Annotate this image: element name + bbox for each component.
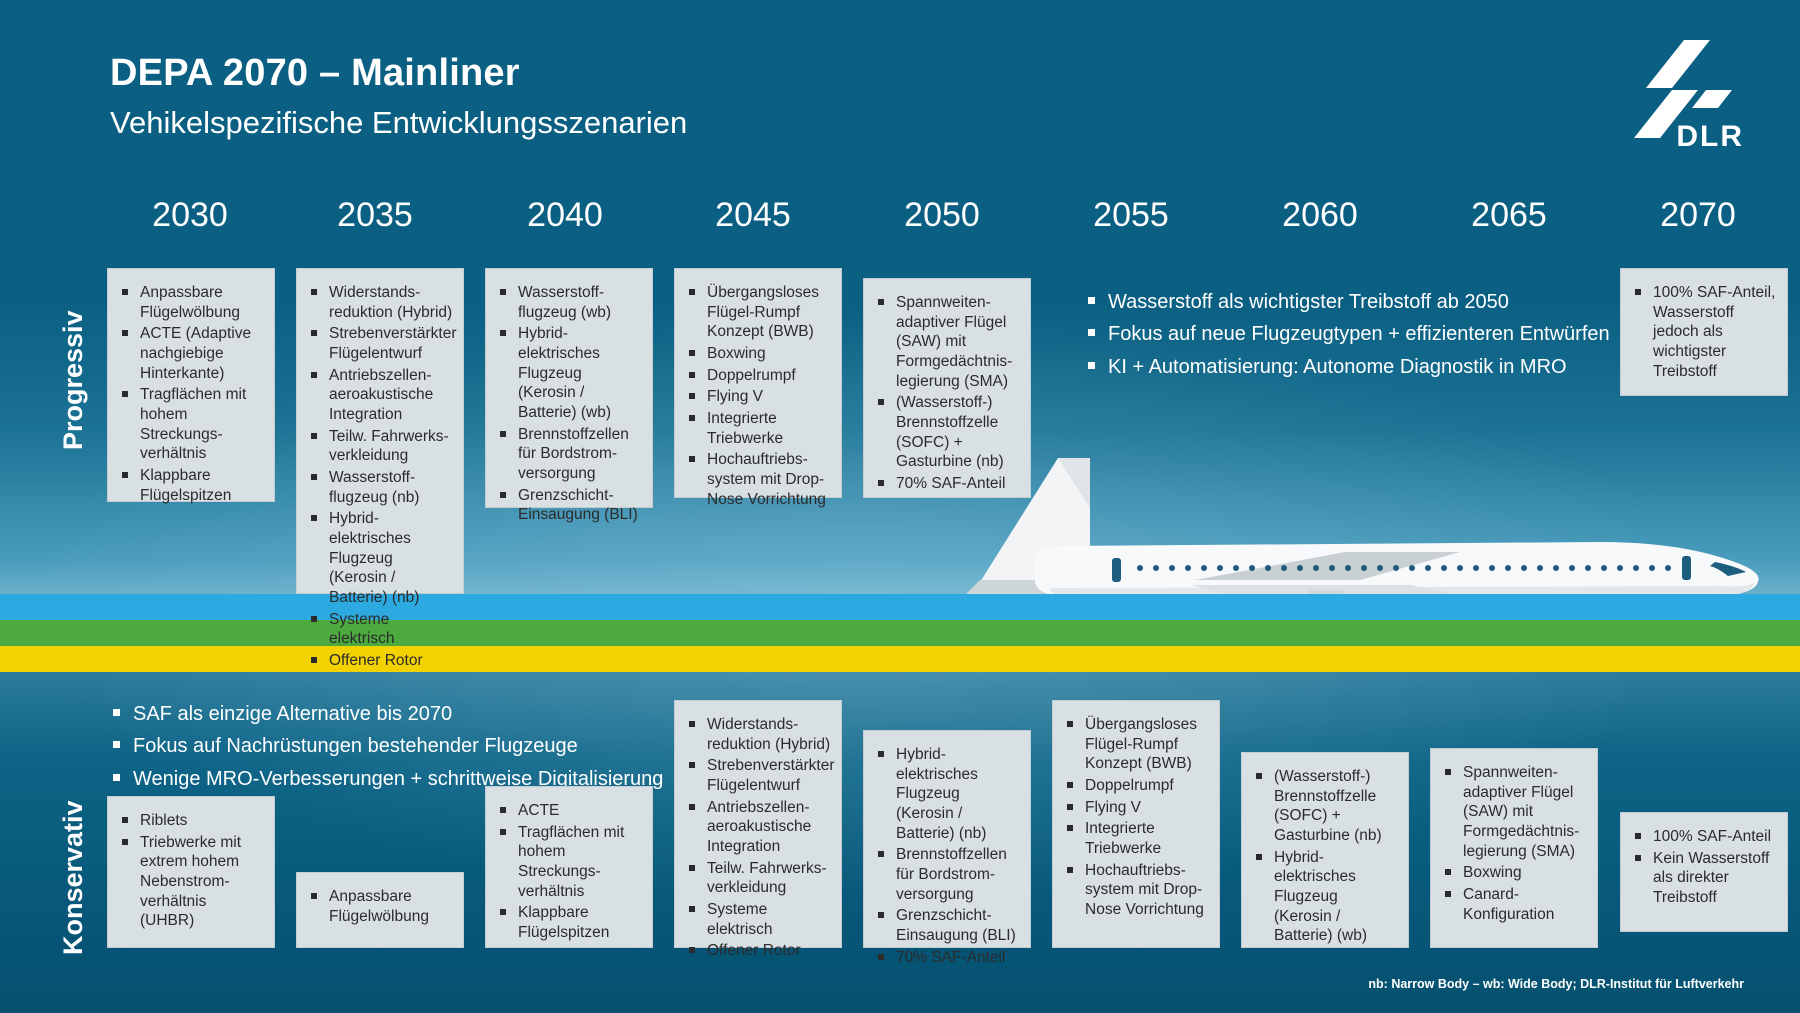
list-item: Übergangsloses Flügel-Rumpf Konzept (BWB… [685,283,831,342]
conservative-box-2055[interactable]: Übergangsloses Flügel-Rumpf Konzept (BWB… [1052,700,1220,948]
list-item: Boxwing [685,344,831,364]
list-item: Wasserstoff-flugzeug (wb) [496,283,642,322]
list-item: Riblets [118,811,264,831]
bullet-list: 100% SAF-AnteilKein Wasserstoff als dire… [1631,827,1777,908]
list-item: Boxwing [1441,863,1587,883]
list-item: Offener Rotor [307,651,453,671]
infographic-slide: DEPA 2070 – Mainliner Vehikelspezifische… [0,0,1800,1013]
year-label-2030: 2030 [115,196,265,235]
conservative-box-2070[interactable]: 100% SAF-AnteilKein Wasserstoff als dire… [1620,812,1788,932]
list-item: 100% SAF-Anteil [1631,827,1777,847]
dlr-logo-text: DLR [1676,120,1744,154]
list-item: Integrierte Triebwerke [1063,819,1209,858]
list-item: Wasserstoff als wichtigster Treibstoff a… [1082,286,1610,318]
year-label-2045: 2045 [678,196,828,235]
list-item: Tragflächen mit hohem Streckungs-verhält… [118,385,264,464]
conservative-box-2060[interactable]: (Wasserstoff-) Brennstoffzelle (SOFC) + … [1241,752,1409,948]
list-item: Antriebszellen-aeroakustische Integratio… [685,798,831,857]
list-item: Spannweiten-adaptiver Flügel (SAW) mit F… [874,293,1020,391]
conservative-box-2050[interactable]: Hybrid-elektrisches Flugzeug (Kerosin / … [863,730,1031,948]
list-item: Spannweiten-adaptiver Flügel (SAW) mit F… [1441,763,1587,861]
list-item: Tragflächen mit hohem Streckungs-verhält… [496,823,642,902]
list-item: Strebenverstärkter Flügelentwurf [685,756,831,795]
list-item: Anpassbare Flügelwölbung [307,887,453,926]
progressive-box-2050[interactable]: Spannweiten-adaptiver Flügel (SAW) mit F… [863,278,1031,498]
list-item: Antriebszellen-aeroakustische Integratio… [307,366,453,425]
list-item: Grenzschicht-Einsaugung (BLI) [874,906,1020,945]
list-item: Doppelrumpf [1063,776,1209,796]
list-item: Fokus auf neue Flugzeugtypen + effizient… [1082,318,1610,350]
year-label-2035: 2035 [300,196,450,235]
bullet-list: Anpassbare Flügelwölbung [307,887,453,926]
list-item: Hybrid-elektrisches Flugzeug (Kerosin / … [874,745,1020,843]
year-label-2040: 2040 [490,196,640,235]
stripe-blue [0,594,1800,620]
progressive-summary-list: Wasserstoff als wichtigster Treibstoff a… [1082,286,1610,383]
conservative-box-2045[interactable]: Widerstands-reduktion (Hybrid)Strebenver… [674,700,842,948]
bullet-list: Widerstands-reduktion (Hybrid)Strebenver… [685,715,831,961]
list-item: Integrierte Triebwerke [685,409,831,448]
bullet-list: Hybrid-elektrisches Flugzeug (Kerosin / … [874,745,1020,967]
list-item: 70% SAF-Anteil [874,948,1020,968]
list-item: Grenzschicht-Einsaugung (BLI) [496,486,642,525]
stripe-yellow [0,646,1800,672]
list-item: Klappbare Flügelspitzen [496,903,642,942]
list-item: Wasserstoff-flugzeug (nb) [307,468,453,507]
page-title: DEPA 2070 – Mainliner [110,52,520,95]
list-item: Teilw. Fahrwerks-verkleidung [307,427,453,466]
list-item: Canard-Konfiguration [1441,885,1587,924]
bullet-list: (Wasserstoff-) Brennstoffzelle (SOFC) + … [1252,767,1398,946]
year-label-2065: 2065 [1434,196,1584,235]
bullet-list: Spannweiten-adaptiver Flügel (SAW) mit F… [874,293,1020,494]
progressive-box-2035[interactable]: Widerstands-reduktion (Hybrid)Strebenver… [296,268,464,594]
bullet-list: RibletsTriebwerke mit extrem hohem Neben… [118,811,264,931]
bullet-list: SAF als einzige Alternative bis 2070Foku… [107,698,663,795]
list-item: Widerstands-reduktion (Hybrid) [685,715,831,754]
list-item: (Wasserstoff-) Brennstoffzelle (SOFC) + … [1252,767,1398,846]
conservative-summary-list: SAF als einzige Alternative bis 2070Foku… [107,698,663,795]
bullet-list: 100% SAF-Anteil, Wasserstoff jedoch als … [1631,283,1777,381]
list-item: ACTE [496,801,642,821]
list-item: Hybrid-elektrisches Flugzeug (Kerosin / … [1252,848,1398,946]
list-item: Teilw. Fahrwerks-verkleidung [685,859,831,898]
list-item: Hybrid-elektrisches Flugzeug (Kerosin / … [496,324,642,422]
list-item: 100% SAF-Anteil, Wasserstoff jedoch als … [1631,283,1777,381]
list-item: Anpassbare Flügelwölbung [118,283,264,322]
list-item: Brennstoffzellen für Bordstrom-versorgun… [496,425,642,484]
year-label-2055: 2055 [1056,196,1206,235]
list-item: Hybrid-elektrisches Flugzeug (Kerosin / … [307,509,453,607]
brand-stripes [0,594,1800,674]
year-label-2060: 2060 [1245,196,1395,235]
list-item: 70% SAF-Anteil [874,474,1020,494]
year-label-2050: 2050 [867,196,1017,235]
bullet-list: Widerstands-reduktion (Hybrid)Strebenver… [307,283,453,671]
list-item: Strebenverstärkter Flügelentwurf [307,324,453,363]
list-item: Hochauftriebs-system mit Drop-Nose Vorri… [685,450,831,509]
bullet-list: Spannweiten-adaptiver Flügel (SAW) mit F… [1441,763,1587,924]
list-item: Offener Rotor [685,941,831,961]
conservative-box-2065[interactable]: Spannweiten-adaptiver Flügel (SAW) mit F… [1430,748,1598,948]
list-item: ACTE (Adaptive nachgiebige Hinterkante) [118,324,264,383]
page-subtitle: Vehikelspezifische Entwicklungsszenarien [110,105,687,141]
stripe-green [0,620,1800,646]
conservative-box-2040[interactable]: ACTETragflächen mit hohem Streckungs-ver… [485,786,653,948]
bullet-list: Übergangsloses Flügel-Rumpf Konzept (BWB… [1063,715,1209,920]
footnote: nb: Narrow Body – wb: Wide Body; DLR-Ins… [1368,977,1744,991]
progressive-box-2045[interactable]: Übergangsloses Flügel-Rumpf Konzept (BWB… [674,268,842,498]
bullet-list: Übergangsloses Flügel-Rumpf Konzept (BWB… [685,283,831,509]
progressive-box-2030[interactable]: Anpassbare FlügelwölbungACTE (Adaptive n… [107,268,275,502]
conservative-box-2035[interactable]: Anpassbare Flügelwölbung [296,872,464,948]
row-label-progressive: Progressiv [58,310,89,450]
list-item: Systeme elektrisch [685,900,831,939]
list-item: Systeme elektrisch [307,610,453,649]
conservative-box-2030[interactable]: RibletsTriebwerke mit extrem hohem Neben… [107,796,275,948]
list-item: Triebwerke mit extrem hohem Nebenstrom-v… [118,833,264,931]
list-item: Fokus auf Nachrüstungen bestehender Flug… [107,730,663,762]
list-item: Übergangsloses Flügel-Rumpf Konzept (BWB… [1063,715,1209,774]
list-item: SAF als einzige Alternative bis 2070 [107,698,663,730]
list-item: Kein Wasserstoff als direkter Treibstoff [1631,849,1777,908]
list-item: Hochauftriebs-system mit Drop-Nose Vorri… [1063,861,1209,920]
progressive-box-2070[interactable]: 100% SAF-Anteil, Wasserstoff jedoch als … [1620,268,1788,396]
list-item: Brennstoffzellen für Bordstrom-versorgun… [874,845,1020,904]
progressive-box-2040[interactable]: Wasserstoff-flugzeug (wb)Hybrid-elektris… [485,268,653,508]
bullet-list: Anpassbare FlügelwölbungACTE (Adaptive n… [118,283,264,505]
list-item: Klappbare Flügelspitzen [118,466,264,505]
bullet-list: ACTETragflächen mit hohem Streckungs-ver… [496,801,642,943]
list-item: Flying V [1063,798,1209,818]
list-item: KI + Automatisierung: Autonome Diagnosti… [1082,351,1610,383]
list-item: Flying V [685,387,831,407]
row-label-conservative: Konservativ [58,800,89,955]
bullet-list: Wasserstoff als wichtigster Treibstoff a… [1082,286,1610,383]
list-item: (Wasserstoff-) Brennstoffzelle (SOFC) + … [874,393,1020,472]
list-item: Widerstands-reduktion (Hybrid) [307,283,453,322]
year-label-2070: 2070 [1623,196,1773,235]
list-item: Doppelrumpf [685,366,831,386]
bullet-list: Wasserstoff-flugzeug (wb)Hybrid-elektris… [496,283,642,525]
